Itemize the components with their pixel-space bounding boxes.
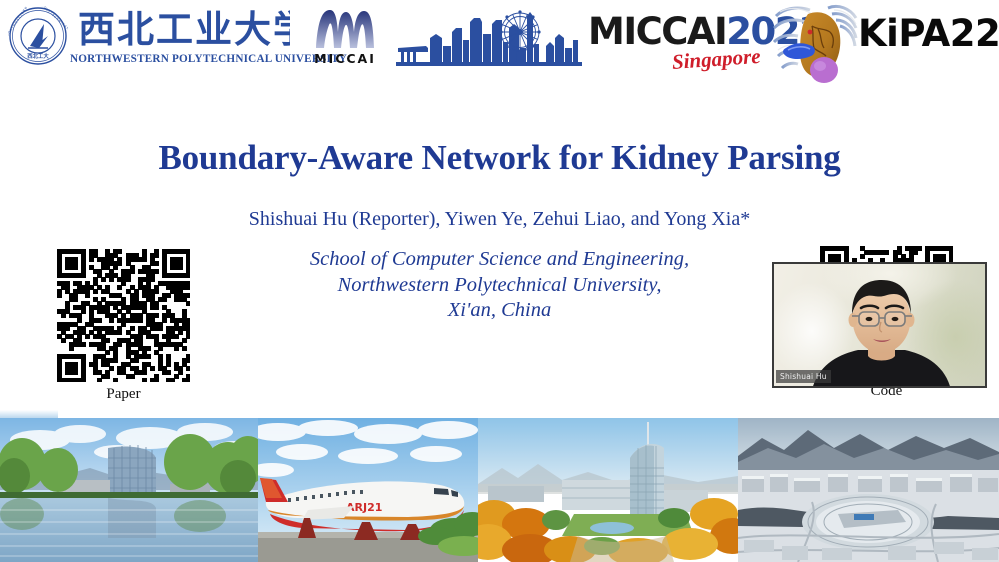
npu-chinese-wordmark: 西北工业大学 [78, 8, 290, 52]
qr-code-icon[interactable] [57, 249, 190, 382]
decorative-sliver [0, 410, 58, 418]
conference-name-text: MICCAI [588, 10, 726, 53]
singapore-skyline-icon [396, 8, 582, 70]
photo-strip: ARJ21 [0, 418, 999, 562]
miccai-society-label: MICCAI [306, 51, 384, 66]
autumn-campus-tower-photo [478, 418, 738, 562]
campus-lake-reflection-photo [0, 418, 258, 562]
svg-text:P O L Y T E C H N I C A L: P O L Y T E C H N I C A L [41, 6, 68, 30]
webcam-participant-name: Shishuai Hu [776, 370, 831, 383]
header-logo-bar: N O R T H W E S T E R N P O L Y T E C H … [0, 0, 999, 88]
miccai-brain-wave-icon [310, 8, 380, 50]
page-title: Boundary-Aware Network for Kidney Parsin… [0, 138, 999, 178]
arj21-aircraft-photo: ARJ21 [258, 418, 478, 562]
npu-english-wordmark: NORTHWESTERN POLYTECHNICAL UNIVERSITY [70, 53, 298, 65]
challenge-name-text: KiPA22 [858, 12, 999, 56]
snow-aerial-campus-photo [738, 418, 999, 562]
authors-line: Shishuai Hu (Reporter), Yiwen Ye, Zehui … [0, 208, 999, 231]
conference-city-text: Singapore [671, 44, 761, 75]
paper-qr-block[interactable]: Paper [57, 249, 190, 403]
webcam-video-tile[interactable]: Shishuai Hu [772, 262, 987, 388]
svg-text:N O R T H W E S T E R N: N O R T H W E S T E R N [8, 6, 28, 37]
paper-qr-caption: Paper [57, 386, 190, 403]
npu-circular-seal-icon: N O R T H W E S T E R N P O L Y T E C H … [8, 6, 68, 66]
svg-text:西北工大: 西北工大 [27, 52, 49, 60]
